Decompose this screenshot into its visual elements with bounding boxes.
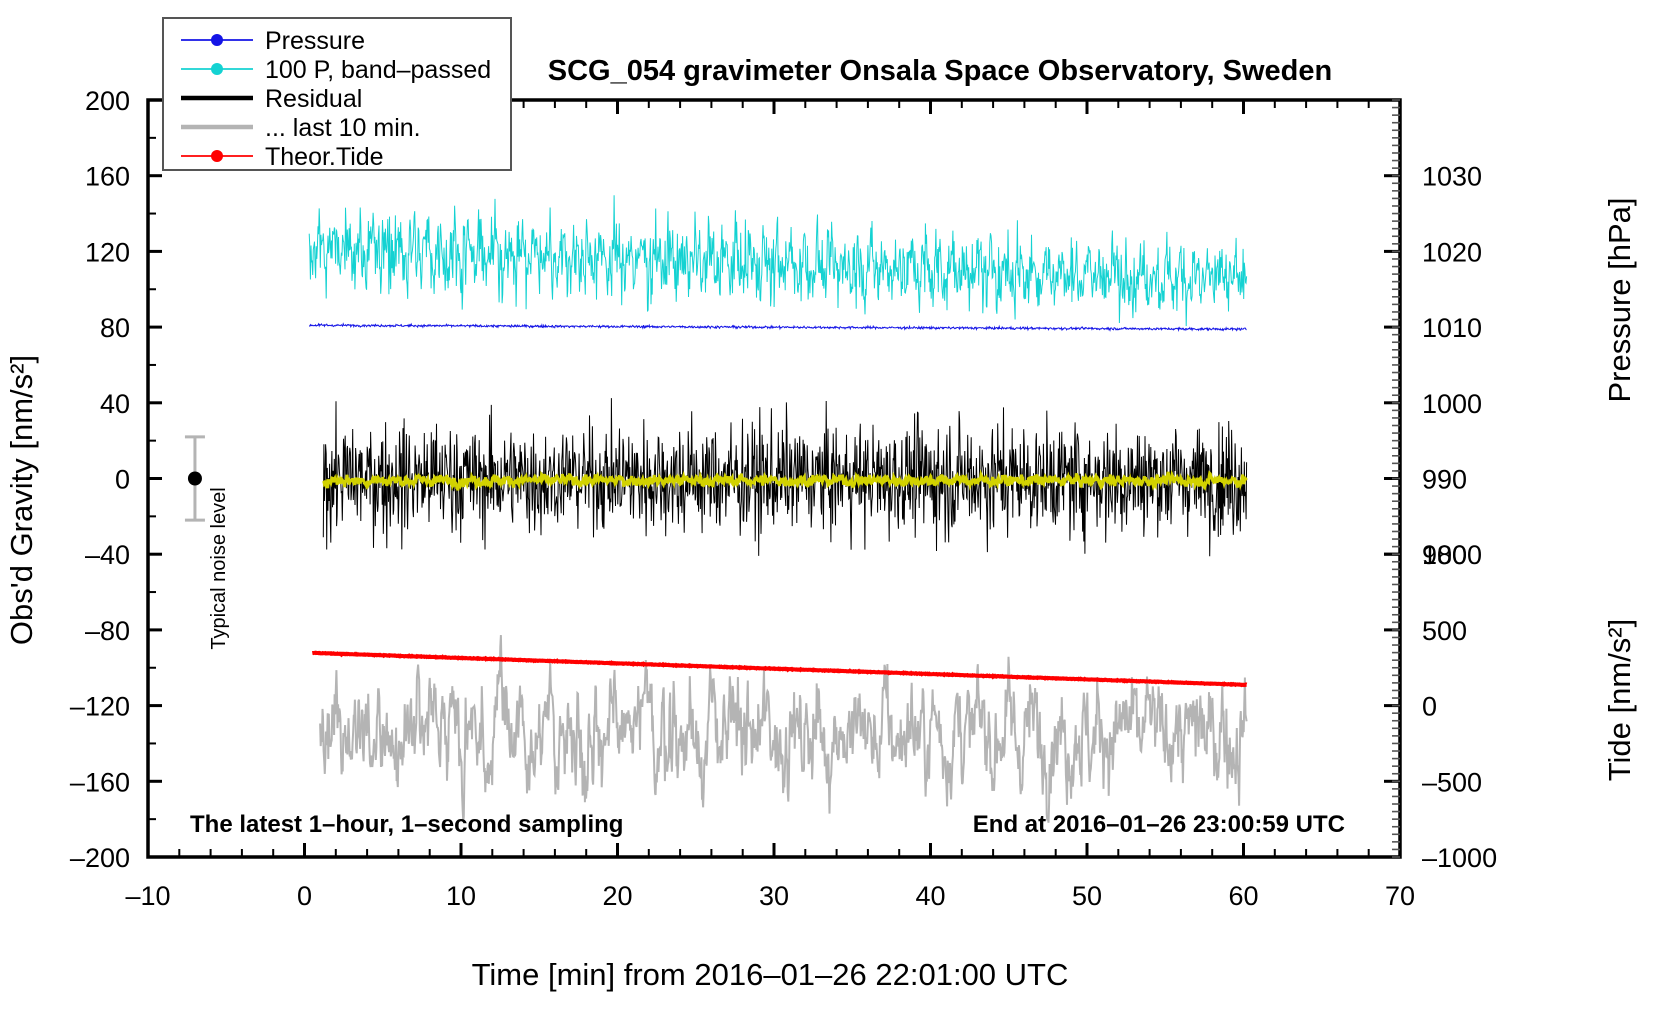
- y-tick-label-left: –80: [85, 616, 130, 646]
- noise-level-label: Typical noise level: [208, 487, 230, 649]
- x-tick-label: 20: [602, 881, 632, 911]
- y-tick-label-left: –40: [85, 540, 130, 570]
- chart-canvas: Obs'd Gravity [nm/s²] Pressure [hPa] Tid…: [0, 0, 1660, 1020]
- chart-legend[interactable]: Pressure100 P, band–passedResidual... la…: [163, 18, 511, 171]
- y-tick-label-left: –200: [70, 843, 130, 873]
- pressure-tick-label: 1000: [1422, 389, 1482, 419]
- tide-tick-label: 1000: [1422, 540, 1482, 570]
- y-tick-label-left: 160: [85, 162, 130, 192]
- pressure-tick-label: 990: [1422, 465, 1467, 495]
- legend-label: ... last 10 min.: [265, 114, 421, 142]
- series-pressure: [309, 324, 1246, 331]
- x-tick-label: 60: [1228, 881, 1258, 911]
- x-tick-label: 0: [297, 881, 312, 911]
- legend-label: Pressure: [265, 27, 365, 55]
- y-tick-label-left: 200: [85, 86, 130, 116]
- legend-swatch-dot: [211, 34, 223, 46]
- pressure-tick-label: 1030: [1422, 162, 1482, 192]
- pressure-tick-label: 1010: [1422, 313, 1482, 343]
- x-tick-label: 40: [915, 881, 945, 911]
- y-tick-label-left: –120: [70, 692, 130, 722]
- gravimeter-chart: Obs'd Gravity [nm/s²] Pressure [hPa] Tid…: [0, 0, 1660, 1020]
- legend-label: 100 P, band–passed: [265, 56, 491, 84]
- x-axis-title: Time [min] from 2016–01–26 22:01:00 UTC: [472, 957, 1069, 992]
- y-axis-title-right-pressure: Pressure [hPa]: [1602, 197, 1637, 402]
- x-tick-label: 30: [759, 881, 789, 911]
- pressure-tick-label: 1020: [1422, 237, 1482, 267]
- y-tick-label-left: 0: [115, 465, 130, 495]
- y-axis-title-left: Obs'd Gravity [nm/s²]: [4, 355, 39, 645]
- tide-tick-label: 0: [1422, 692, 1437, 722]
- noise-center-dot: [188, 472, 202, 486]
- x-tick-label: 50: [1072, 881, 1102, 911]
- y-tick-label-left: 40: [100, 389, 130, 419]
- legend-swatch-dot: [211, 150, 223, 162]
- annotations-layer: The latest 1–hour, 1–second samplingEnd …: [190, 811, 1345, 838]
- legend-label: Residual: [265, 85, 362, 113]
- legend-label: Theor.Tide: [265, 143, 384, 171]
- x-tick-label: –10: [125, 881, 170, 911]
- series-theor-tide: [312, 653, 1246, 685]
- sampling-note: The latest 1–hour, 1–second sampling: [190, 811, 623, 838]
- noise-level-marker: Typical noise level: [185, 437, 230, 650]
- y-tick-label-left: 80: [100, 313, 130, 343]
- series-100-p-band-passed: [309, 195, 1246, 326]
- y-axis-title-right-tide: Tide [nm/s²]: [1602, 619, 1637, 782]
- y-tick-label-left: 120: [85, 237, 130, 267]
- x-tick-label: 70: [1385, 881, 1415, 911]
- page-title: SCG_054 gravimeter Onsala Space Observat…: [548, 55, 1332, 87]
- legend-swatch-dot: [211, 63, 223, 75]
- tide-tick-label: –500: [1422, 767, 1482, 797]
- y-tick-label-left: –160: [70, 767, 130, 797]
- series-last-10-min: [320, 635, 1247, 823]
- tide-tick-label: –1000: [1422, 843, 1497, 873]
- data-traces-layer: [309, 195, 1246, 822]
- tide-tick-label: 500: [1422, 616, 1467, 646]
- x-tick-label: 10: [446, 881, 476, 911]
- end-time-note: End at 2016–01–26 23:00:59 UTC: [973, 811, 1345, 838]
